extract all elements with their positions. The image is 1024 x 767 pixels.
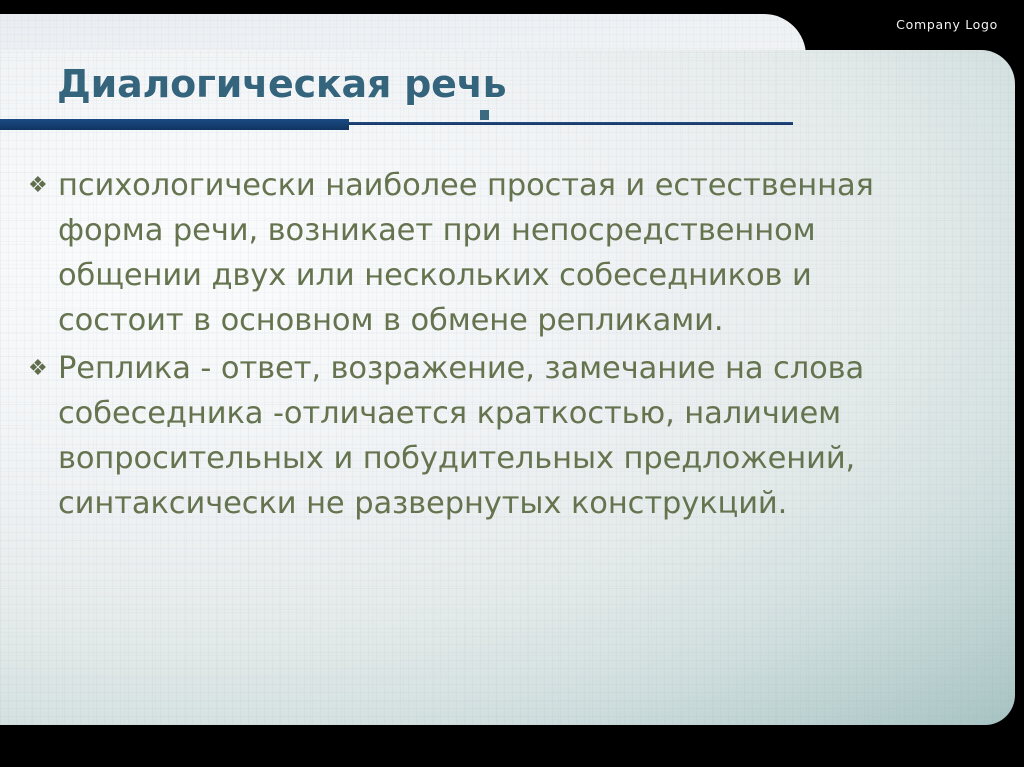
slide-title: Диалогическая речь [57,64,506,106]
list-item: ❖ психологически наиболее простая и есте… [22,163,982,343]
company-logo-label: Company Logo [896,19,998,32]
title-underline-thick [0,119,349,130]
title-accent-tick [480,110,489,120]
bullet-list: ❖ психологически наиболее простая и есте… [22,163,982,529]
bullet-text: психологически наиболее простая и естест… [58,163,982,343]
title-underline-thin [349,122,793,125]
presentation-slide: Company Logo Диалогическая речь ❖ психол… [0,0,1024,767]
slide-content: Диалогическая речь ❖ психологически наиб… [0,0,1024,767]
bullet-text: Реплика - ответ, возражение, замечание н… [58,346,982,526]
diamond-bullet-icon: ❖ [22,346,58,391]
list-item: ❖ Реплика - ответ, возражение, замечание… [22,346,982,526]
diamond-bullet-icon: ❖ [22,163,58,208]
